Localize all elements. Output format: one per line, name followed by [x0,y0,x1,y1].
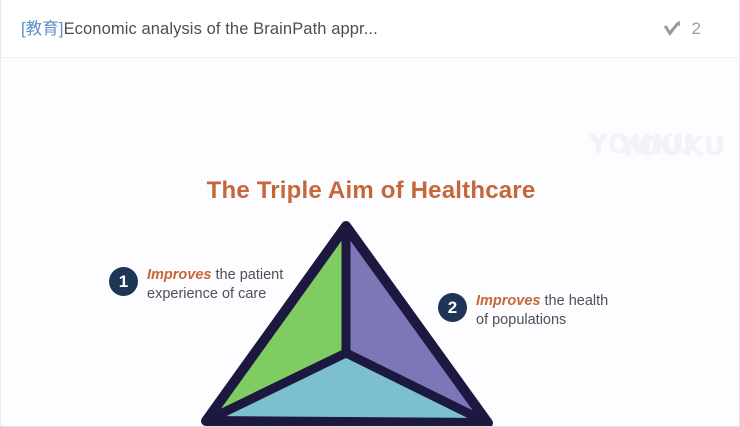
youku-watermark: YOUKU YOUKU [589,126,729,166]
video-title-text[interactable]: Economic analysis of the BrainPath appr.… [64,20,378,38]
check-arrow-icon[interactable] [661,18,683,40]
category-tag[interactable]: [教育] [21,20,64,38]
callout-line1-rest-2: the health [540,293,608,309]
watermark-text-back: YOUKU [619,132,726,162]
callout-number-1: 1 [109,267,138,296]
callout-verb-2: Improves [476,293,540,309]
view-count: 2 [692,18,701,40]
slide-canvas: YOUKU YOUKU The Triple Aim of Healthcare… [1,58,740,427]
callout-line1-rest-1: the patient [211,267,283,283]
callout-text-1: Improves the patient experience of care [147,266,283,303]
slide-title: The Triple Aim of Healthcare [1,177,740,205]
video-header-bar: [教育]Economic analysis of the BrainPath a… [1,0,740,58]
callout-number-2: 2 [438,293,467,322]
header-meta-group: 2 [661,18,723,40]
video-title[interactable]: [教育]Economic analysis of the BrainPath a… [21,18,661,40]
watermark-text-front: YOUKU [589,130,696,160]
callout-line2-2: of populations [476,312,566,328]
video-page: [教育]Economic analysis of the BrainPath a… [0,0,740,427]
callout-text-2: Improves the health of populations [476,292,608,329]
callout-line2-1: experience of care [147,286,266,302]
callout-verb-1: Improves [147,267,211,283]
callout-aim-2: 2 Improves the health of populations [438,292,608,329]
callout-aim-1: 1 Improves the patient experience of car… [109,266,283,303]
